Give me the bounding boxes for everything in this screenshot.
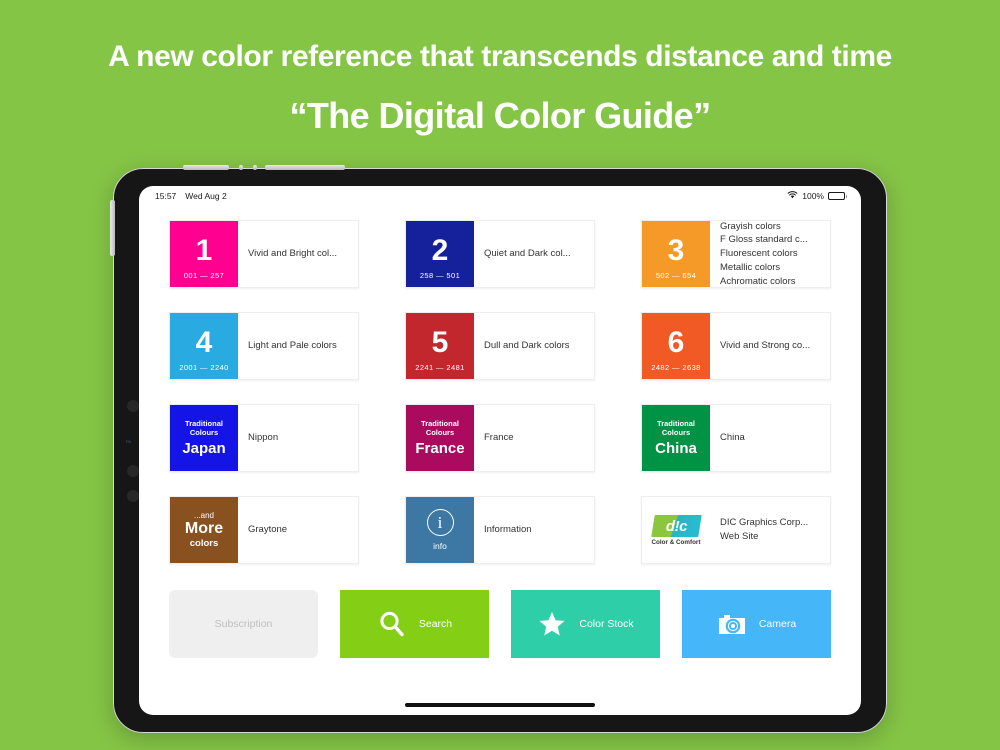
sensor-dot-2 (127, 490, 139, 502)
camera-icon (717, 611, 747, 637)
tile-label-line: Graytone (248, 523, 287, 537)
tile-range: 2001 — 2240 (179, 363, 228, 372)
tile-more-colors-badge: ...andMorecolors (170, 497, 238, 563)
top-button-b[interactable] (239, 165, 243, 170)
tablet-device: PA 15:57 Wed Aug 2 100% (113, 168, 887, 733)
tile-label: China (710, 405, 830, 471)
headline-text: A new color reference that transcends di… (0, 40, 1000, 73)
dic-mark-icon: d!c (651, 515, 701, 537)
volume-button[interactable] (110, 200, 115, 256)
action-label: Search (419, 618, 452, 630)
promo-header: A new color reference that transcends di… (0, 0, 1000, 137)
tile-label: Vivid and Bright col... (238, 221, 358, 287)
tile-label: DIC Graphics Corp...Web Site (710, 497, 830, 563)
category-tile[interactable]: 2258 — 501Quiet and Dark col... (405, 220, 595, 288)
tile-label: Graytone (238, 497, 358, 563)
category-tile[interactable]: 62482 — 2638Vivid and Strong co... (641, 312, 831, 380)
camera-lens-dot (127, 400, 139, 412)
dic-logo: d!cColor & Comfort (642, 497, 710, 563)
action-button-search[interactable]: Search (340, 590, 489, 658)
sensor-dot-1 (127, 465, 139, 477)
magnifier-icon (377, 609, 407, 639)
tile-number-badge: 62482 — 2638 (642, 313, 710, 379)
tile-label-line: Quiet and Dark col... (484, 247, 571, 261)
dic-logo-text: d!c (666, 518, 687, 533)
traditional-country-name: China (655, 441, 697, 456)
traditional-country-name: France (415, 441, 464, 456)
tile-label-line: Achromatic colors (720, 275, 796, 287)
tile-label-line: Fluorescent colors (720, 247, 798, 261)
home-indicator[interactable] (405, 703, 595, 707)
tile-number: 6 (668, 328, 685, 358)
tile-label-line: Vivid and Strong co... (720, 339, 810, 353)
tile-number: 3 (668, 236, 685, 266)
dic-tagline: Color & Comfort (652, 539, 701, 546)
traditional-colours-label: TraditionalColours (421, 420, 459, 437)
tile-range: 2482 — 2638 (651, 363, 700, 372)
tile-number-badge: 1001 — 257 (170, 221, 238, 287)
info-word: info (433, 541, 447, 551)
traditional-colours-label: TraditionalColours (185, 420, 223, 437)
more-colors-line1: ...and (194, 511, 214, 520)
tile-label-line: Web Site (720, 530, 758, 544)
tile-label-line: Information (484, 523, 532, 537)
category-tile[interactable]: ...andMorecolorsGraytone (169, 496, 359, 564)
tile-label-line: Light and Pale colors (248, 339, 337, 353)
status-date: Wed Aug 2 (185, 191, 226, 201)
action-button-color-stock[interactable]: Color Stock (511, 590, 660, 658)
category-tile[interactable]: iinfoInformation (405, 496, 595, 564)
tile-label-line: Grayish colors (720, 221, 781, 233)
traditional-colours-label: TraditionalColours (657, 420, 695, 437)
action-button-subscription[interactable]: Subscription (169, 590, 318, 658)
tile-info-badge: iinfo (406, 497, 474, 563)
tile-label: Dull and Dark colors (474, 313, 594, 379)
action-label: Camera (759, 618, 796, 630)
top-button-a[interactable] (183, 165, 229, 170)
star-icon (537, 609, 567, 639)
category-tile[interactable]: TraditionalColoursFranceFrance (405, 404, 595, 472)
tile-range: 258 — 501 (420, 271, 460, 280)
tablet-screen: 15:57 Wed Aug 2 100% 1001 — 257Vivid and (139, 186, 861, 715)
battery-full-icon (828, 192, 845, 200)
tile-traditional-badge: TraditionalColoursJapan (170, 405, 238, 471)
tile-label: Nippon (238, 405, 358, 471)
traditional-country-name: Japan (182, 441, 225, 456)
action-label: Color Stock (579, 618, 633, 630)
tile-number-badge: 42001 — 2240 (170, 313, 238, 379)
tile-number: 4 (196, 328, 213, 358)
status-bar: 15:57 Wed Aug 2 100% (139, 186, 861, 206)
battery-percent-label: 100% (802, 191, 824, 201)
subheadline-text: “The Digital Color Guide” (0, 95, 1000, 137)
tile-number-badge: 2258 — 501 (406, 221, 474, 287)
tile-label: Light and Pale colors (238, 313, 358, 379)
tile-range: 001 — 257 (184, 271, 224, 280)
tile-range: 2241 — 2481 (415, 363, 464, 372)
tile-label: Grayish colorsF Gloss standard c...Fluor… (710, 221, 830, 287)
more-colors-line3: colors (190, 538, 219, 549)
info-icon: i (427, 509, 454, 536)
category-tile[interactable]: 1001 — 257Vivid and Bright col... (169, 220, 359, 288)
wifi-icon (787, 191, 798, 201)
category-tile[interactable]: TraditionalColoursChinaChina (641, 404, 831, 472)
category-tile[interactable]: 42001 — 2240Light and Pale colors (169, 312, 359, 380)
tile-label-line: Nippon (248, 431, 278, 445)
tile-number: 5 (432, 328, 449, 358)
category-tile[interactable]: d!cColor & ComfortDIC Graphics Corp...We… (641, 496, 831, 564)
tile-label: Vivid and Strong co... (710, 313, 830, 379)
tile-number: 2 (432, 236, 449, 266)
tile-range: 502 — 654 (656, 271, 696, 280)
tile-label: Quiet and Dark col... (474, 221, 594, 287)
tile-label-line: Metallic colors (720, 261, 780, 275)
category-tile[interactable]: 3502 — 654Grayish colorsF Gloss standard… (641, 220, 831, 288)
action-bar: SubscriptionSearchColor StockCamera (139, 590, 861, 658)
tile-label: France (474, 405, 594, 471)
tile-traditional-badge: TraditionalColoursChina (642, 405, 710, 471)
top-button-c[interactable] (253, 165, 257, 170)
tile-label-line: Vivid and Bright col... (248, 247, 337, 261)
tile-number-badge: 3502 — 654 (642, 221, 710, 287)
tile-traditional-badge: TraditionalColoursFrance (406, 405, 474, 471)
side-marking: PA (126, 439, 131, 444)
tile-label-line: F Gloss standard c... (720, 233, 808, 247)
tile-label-line: France (484, 431, 514, 445)
status-time: 15:57 (155, 191, 176, 201)
action-button-camera[interactable]: Camera (682, 590, 831, 658)
more-colors-line2: More (185, 520, 223, 538)
category-tile[interactable]: 52241 — 2481Dull and Dark colors (405, 312, 595, 380)
tile-number: 1 (196, 236, 213, 266)
power-button[interactable] (265, 165, 345, 170)
category-tile[interactable]: TraditionalColoursJapanNippon (169, 404, 359, 472)
tile-label-line: Dull and Dark colors (484, 339, 570, 353)
tile-label-line: China (720, 431, 745, 445)
tile-label: Information (474, 497, 594, 563)
action-label: Subscription (215, 618, 273, 630)
tile-number-badge: 52241 — 2481 (406, 313, 474, 379)
tile-label-line: DIC Graphics Corp... (720, 516, 808, 530)
category-grid: 1001 — 257Vivid and Bright col...2258 — … (139, 206, 861, 564)
